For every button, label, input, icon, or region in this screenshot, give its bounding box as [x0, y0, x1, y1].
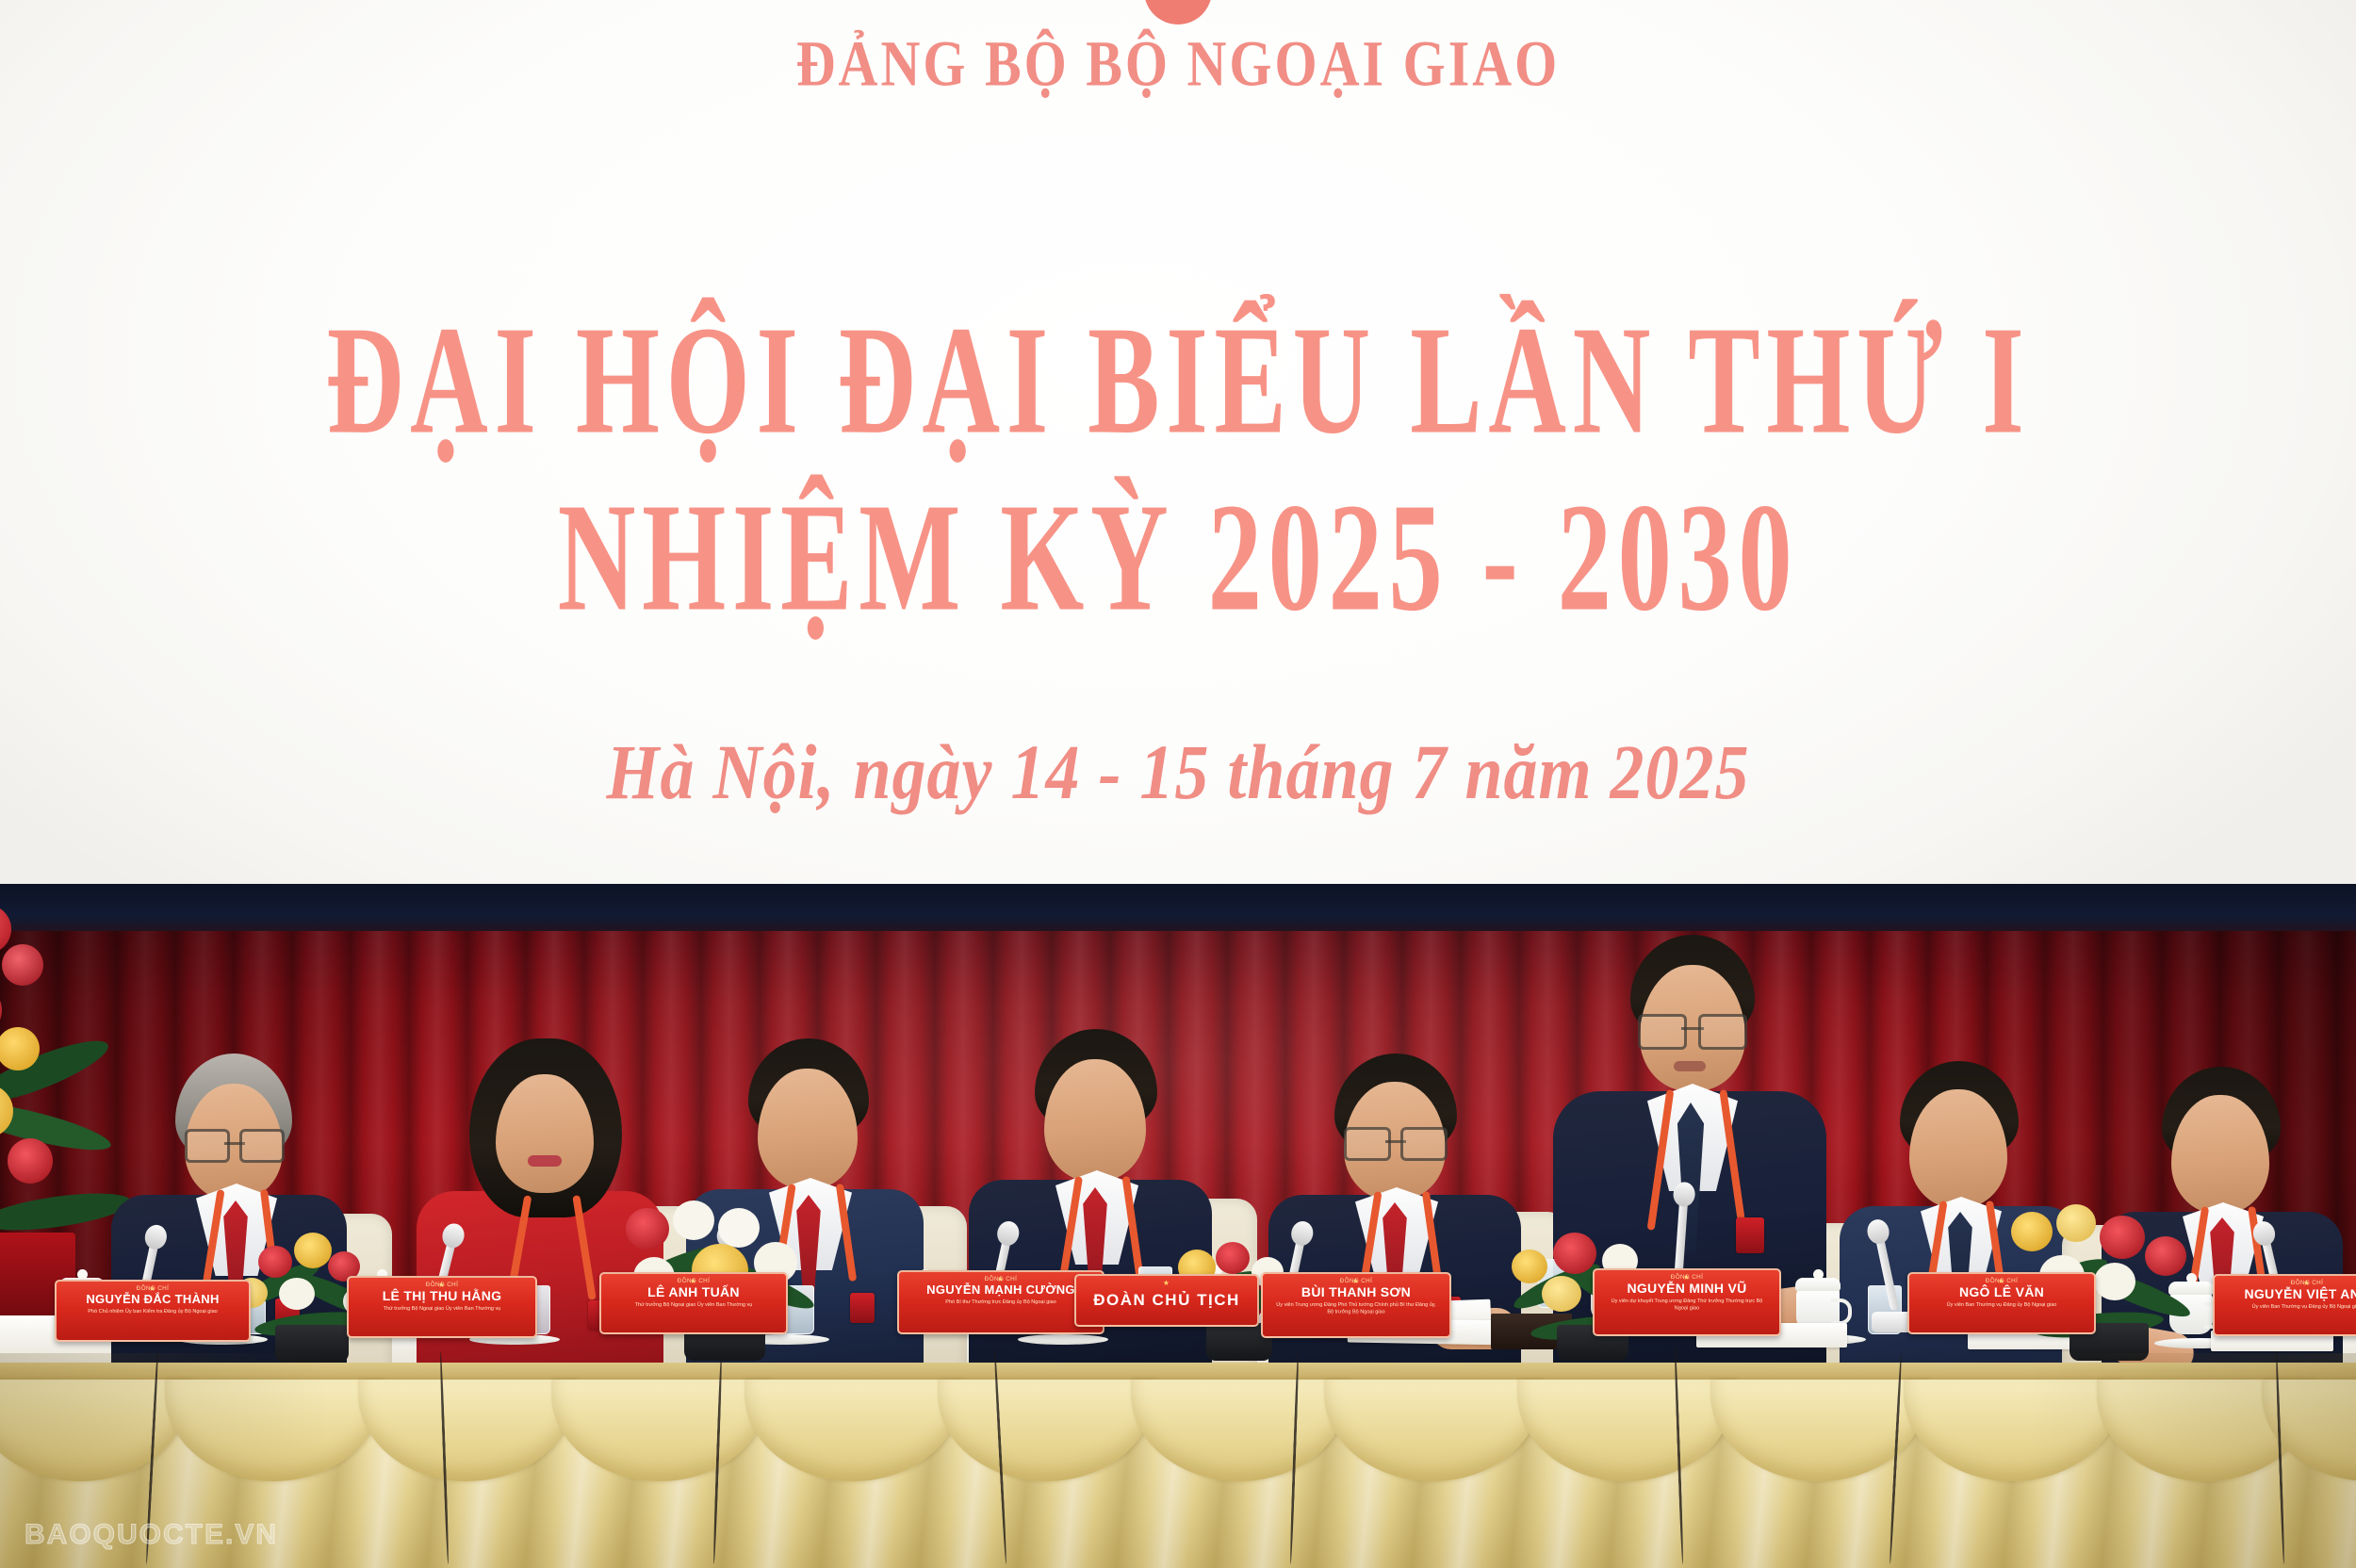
nameplate-7-role: Ủy viên Ban Thường vụ Đảng ủy Bộ Ngoại g… — [1917, 1301, 2086, 1308]
presidium-sign-label: ĐOÀN CHỦ TỊCH — [1093, 1291, 1240, 1310]
nameplate-2-role: Thứ trưởng Bộ Ngoại giao Ủy viên Ban Thư… — [356, 1305, 528, 1312]
nameplate-3-eyebrow: ĐỒNG CHÍ — [611, 1278, 777, 1283]
nameplate-6-role: Ủy viên dự khuyết Trung ương Đảng Thứ tr… — [1602, 1298, 1772, 1313]
plate-star-icon: ★ — [1163, 1279, 1170, 1287]
nameplate-3-name: LÊ ANH TUẤN — [601, 1284, 786, 1299]
nameplate-7-name: NGÔ LÊ VĂN — [1909, 1284, 2094, 1299]
nameplate-7-eyebrow: ĐỒNG CHÍ — [1919, 1278, 2085, 1283]
nameplate-1-eyebrow: ĐỒNG CHÍ — [66, 1285, 239, 1291]
nameplate-8-role: Ủy viên Ban Thường vụ Đảng ủy Bộ Ngoại g… — [2222, 1303, 2356, 1310]
watermark: BAOQUOCTE.VN — [25, 1519, 278, 1551]
nameplate-2-eyebrow: ĐỒNG CHÍ — [358, 1282, 526, 1287]
nameplate-5-role: Ủy viên Trung ương Đảng Phó Thủ tướng Ch… — [1270, 1302, 1442, 1316]
mic-cable-layer — [0, 1319, 2356, 1568]
nameplate-1-name: NGUYỄN ĐẮC THÀNH — [57, 1292, 249, 1306]
nameplate-1-role: Phó Chủ nhiệm Ủy ban Kiểm tra Đảng ủy Bộ… — [64, 1308, 241, 1315]
nameplate-4-role: Phó Bí thư Thường trực Đảng ủy Bộ Ngoại … — [908, 1298, 1095, 1305]
nameplate-8-eyebrow: ĐỒNG CHÍ — [2224, 1280, 2356, 1285]
nameplate-4-name: NGUYỄN MẠNH CƯỜNG — [899, 1282, 1103, 1297]
nameplate-5-name: BÙI THANH SƠN — [1263, 1284, 1449, 1299]
photo-scene: ĐẢNG BỘ BỘ NGOẠI GIAO ĐẠI HỘI ĐẠI BIỂU L… — [0, 0, 2356, 1568]
nameplate-2-name: LÊ THỊ THU HẰNG — [349, 1288, 535, 1303]
nameplate-3-role: Thứ trưởng Bộ Ngoại giao Ủy viên Ban Thư… — [609, 1301, 778, 1308]
nameplate-8-name: NGUYỄN VIỆT ANH — [2215, 1286, 2356, 1301]
nameplate-4-eyebrow: ĐỒNG CHÍ — [909, 1276, 1092, 1282]
nameplate-6-eyebrow: ĐỒNG CHÍ — [1604, 1274, 1770, 1280]
nameplate-6-name: NGUYỄN MINH VŨ — [1595, 1281, 1779, 1296]
nameplate-5-eyebrow: ĐỒNG CHÍ — [1272, 1278, 1440, 1283]
